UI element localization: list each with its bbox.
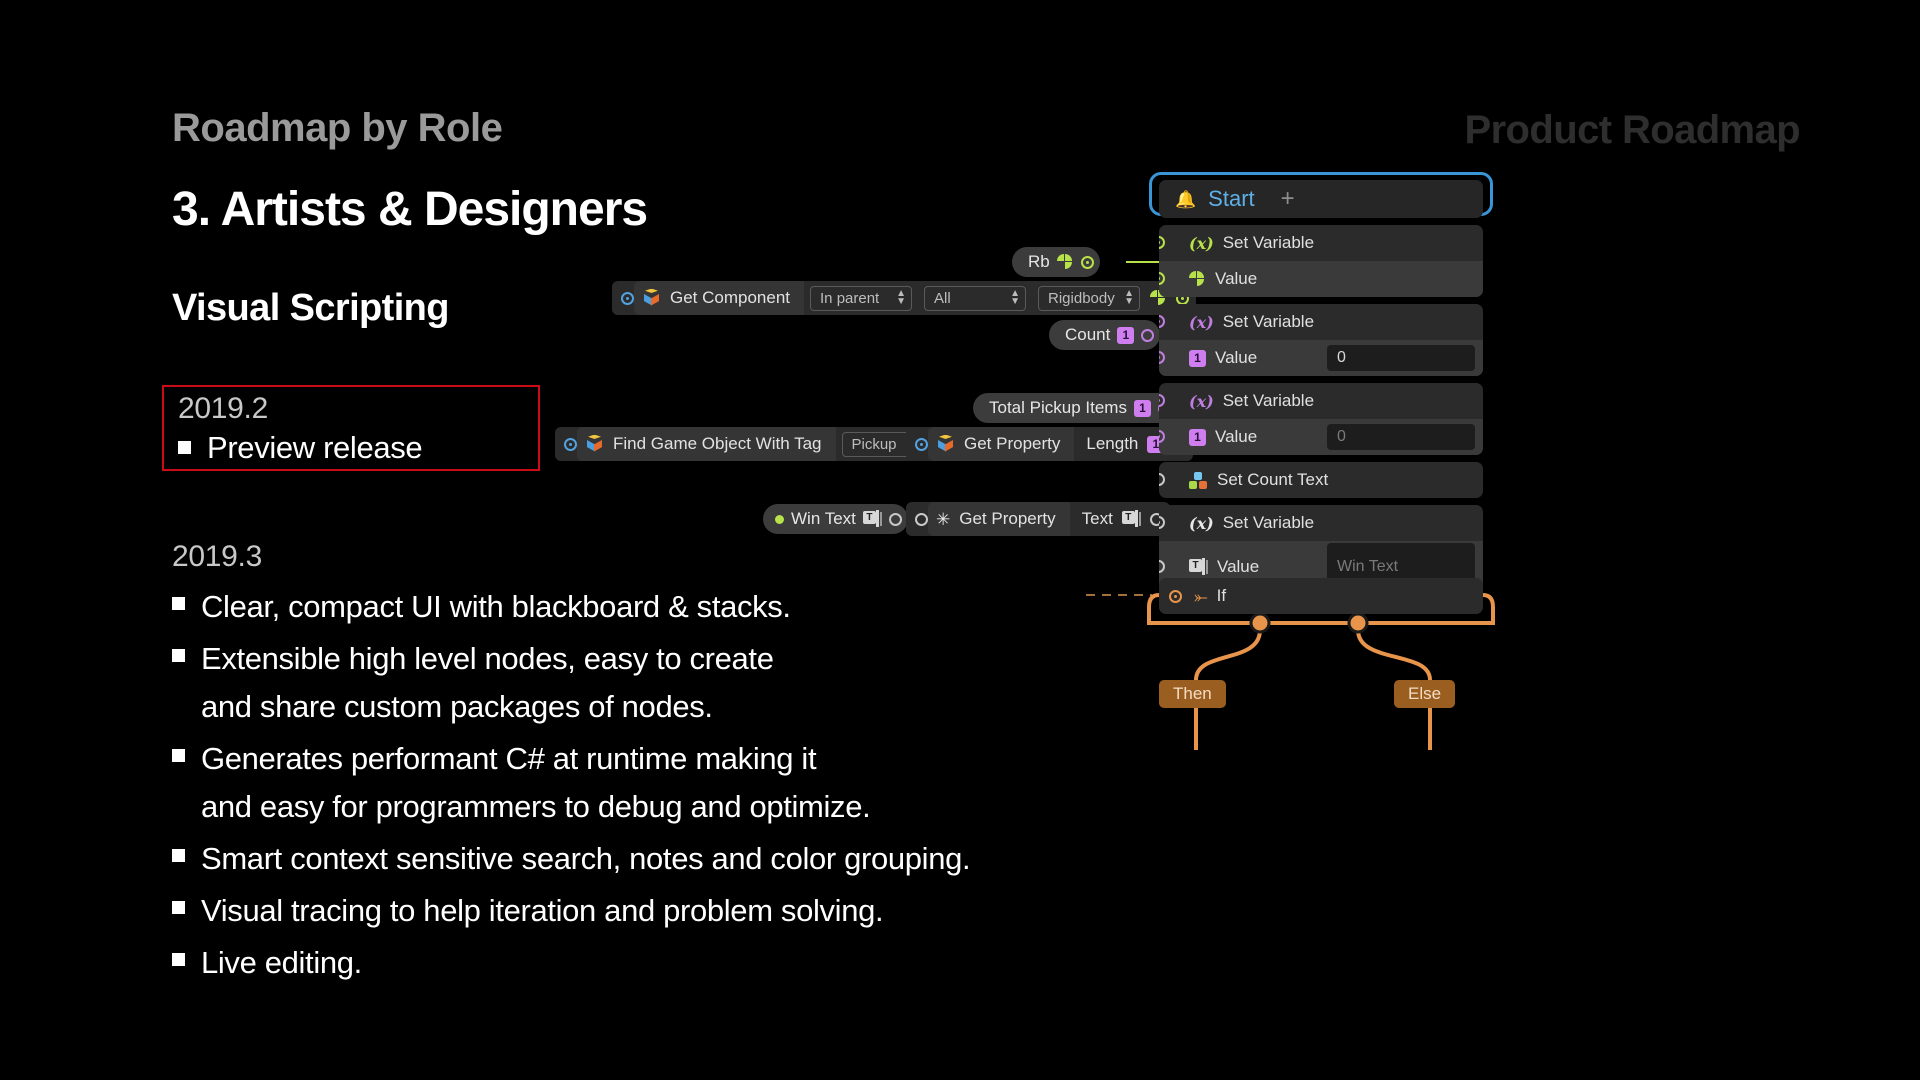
node-get-property-length[interactable]: Get Property Length 1 [906, 427, 1193, 461]
page-title: 3. Artists & Designers [172, 182, 647, 237]
input-port[interactable] [1159, 516, 1165, 529]
input-port[interactable] [621, 292, 634, 305]
row-label: Set Variable [1223, 233, 1314, 253]
input-port[interactable] [564, 438, 577, 451]
pill-rb-variable[interactable]: Rb [1012, 247, 1100, 277]
pill-label: Count [1065, 325, 1110, 345]
select-all[interactable]: All ▲▼ [924, 286, 1026, 311]
select-rigidbody[interactable]: Rigidbody ▲▼ [1038, 286, 1140, 311]
output-port[interactable] [889, 513, 902, 526]
row-label: Value [1215, 427, 1257, 447]
branch-then[interactable]: Then [1159, 680, 1226, 708]
status-dot-icon [775, 515, 784, 524]
star-icon: ✳ [936, 511, 950, 528]
node-get-property-text[interactable]: ✳ Get Property Text T [906, 502, 1170, 536]
input-port[interactable] [1169, 590, 1182, 603]
cube-icon [936, 435, 955, 454]
bullet-icon [172, 953, 185, 966]
cube-icon [585, 435, 604, 454]
select-value: In parent [820, 290, 879, 307]
row-set-variable[interactable]: (𝒙) Set Variable [1159, 383, 1483, 419]
start-stack-node[interactable]: 🔔 Start + (𝒙) Set Variable Va [1159, 180, 1483, 593]
chevron-updown-icon: ▲▼ [1124, 290, 1134, 306]
branch-icon: ⤜ [1194, 588, 1208, 605]
flow-icon [1057, 254, 1074, 271]
text-icon: T [1189, 559, 1208, 576]
version-label-2019-3: 2019.3 [172, 540, 262, 574]
text-icon: T [1122, 511, 1141, 528]
output-port[interactable] [1081, 256, 1094, 269]
node-label: Get Property [964, 434, 1060, 454]
bell-icon: 🔔 [1175, 191, 1196, 208]
chevron-updown-icon: ▲▼ [1010, 290, 1020, 306]
flow-icon [1189, 271, 1206, 288]
row-value[interactable]: 1 Value 0 [1159, 419, 1483, 455]
row-set-count-text[interactable]: Set Count Text [1159, 462, 1483, 498]
unit-group: Set Count Text [1159, 462, 1483, 498]
slide-root: Roadmap by Role 3. Artists & Designers V… [0, 0, 1920, 1080]
bullet-icon [172, 849, 185, 862]
pill-win-text-variable[interactable]: Win Text T [763, 504, 908, 534]
variable-icon: (𝒙) [1189, 234, 1214, 253]
variable-icon: (𝒙) [1189, 313, 1214, 332]
slide-eyebrow: Roadmap by Role [172, 106, 502, 151]
list-item: Live editing. [172, 939, 1092, 987]
number-icon: 1 [1117, 327, 1134, 344]
node-label: Get Property [959, 509, 1055, 529]
row-label: Value [1217, 557, 1259, 577]
pill-label: Win Text [791, 509, 856, 529]
bullet-icon [172, 597, 185, 610]
branch-label: Else [1408, 684, 1441, 704]
number-icon: 1 [1189, 350, 1206, 367]
unit-group: (𝒙) Set Variable 1 Value 0 [1159, 383, 1483, 455]
variable-icon: (𝒙) [1189, 514, 1214, 533]
unit-group: (𝒙) Set Variable Value [1159, 225, 1483, 297]
pill-label: Total Pickup Items [989, 398, 1127, 418]
select-value: Rigidbody [1048, 290, 1115, 307]
row-label: Value [1215, 269, 1257, 289]
cube-icon [642, 289, 661, 308]
select-value: All [934, 290, 951, 307]
list-item-label: Live editing. [201, 939, 362, 987]
output-label: Text [1082, 509, 1113, 529]
bullet-icon [172, 749, 185, 762]
input-port[interactable] [1159, 430, 1165, 443]
input-port[interactable] [915, 513, 928, 526]
input-port[interactable] [1159, 315, 1165, 328]
value-input[interactable]: 0 [1327, 424, 1475, 450]
unit-group: (𝒙) Set Variable 1 Value 0 [1159, 304, 1483, 376]
row-label: Set Variable [1223, 513, 1314, 533]
row-set-variable[interactable]: (𝒙) Set Variable [1159, 225, 1483, 261]
row-value[interactable]: 1 Value 0 [1159, 340, 1483, 376]
node-label: Find Game Object With Tag [613, 434, 822, 454]
add-unit-button[interactable]: + [1281, 185, 1295, 213]
row-label: Value [1215, 348, 1257, 368]
row-label: If [1217, 586, 1226, 606]
row-if[interactable]: ⤜ If [1159, 578, 1483, 614]
pill-count-variable[interactable]: Count 1 [1049, 320, 1160, 350]
input-port[interactable] [1159, 236, 1165, 249]
row-value[interactable]: Value [1159, 261, 1483, 297]
variable-icon: (𝒙) [1189, 392, 1214, 411]
input-port[interactable] [1159, 473, 1165, 486]
visual-scripting-graph: Rb Count 1 Total Pickup Items 1 Win Text… [640, 180, 1920, 900]
input-port[interactable] [1159, 351, 1165, 364]
highlight-box-2019-2: 2019.2 Preview release [162, 385, 540, 471]
pill-total-pickup-items-variable[interactable]: Total Pickup Items 1 [973, 393, 1177, 423]
chevron-updown-icon: ▲▼ [896, 290, 906, 306]
input-port[interactable] [1159, 272, 1165, 285]
list-item: Preview release [178, 430, 422, 467]
input-port[interactable] [1159, 394, 1165, 407]
row-set-variable[interactable]: (𝒙) Set Variable [1159, 505, 1483, 541]
output-port[interactable] [1141, 329, 1154, 342]
branch-else[interactable]: Else [1394, 680, 1455, 708]
bullet-icon [172, 901, 185, 914]
value-input[interactable]: 0 [1327, 345, 1475, 371]
stack-title: Start [1208, 186, 1254, 212]
bullet-icon [178, 441, 191, 454]
list-item-label: Preview release [207, 430, 422, 467]
node-get-component[interactable]: Get Component In parent ▲▼ All ▲▼ Rigidb… [612, 281, 1196, 315]
node-label: Get Component [670, 288, 790, 308]
branch-label: Then [1173, 684, 1212, 704]
stack-header[interactable]: 🔔 Start + [1159, 180, 1483, 218]
deck-title: Product Roadmap [1465, 108, 1800, 153]
input-port[interactable] [1159, 560, 1165, 573]
number-icon: 1 [1134, 400, 1151, 417]
row-label: Set Variable [1223, 391, 1314, 411]
output-label: Length [1086, 434, 1138, 454]
row-set-variable[interactable]: (𝒙) Set Variable [1159, 304, 1483, 340]
select-value: Pickup [852, 436, 897, 453]
feature-title: Visual Scripting [172, 287, 449, 330]
row-label: Set Count Text [1217, 470, 1328, 490]
input-port[interactable] [915, 438, 928, 451]
bullet-icon [172, 649, 185, 662]
pill-label: Rb [1028, 252, 1050, 272]
row-label: Set Variable [1223, 312, 1314, 332]
graph-icon [1189, 472, 1208, 489]
text-icon: T [863, 511, 882, 528]
number-icon: 1 [1189, 429, 1206, 446]
version-label-2019-2: 2019.2 [178, 392, 268, 426]
select-in-parent[interactable]: In parent ▲▼ [810, 286, 912, 311]
